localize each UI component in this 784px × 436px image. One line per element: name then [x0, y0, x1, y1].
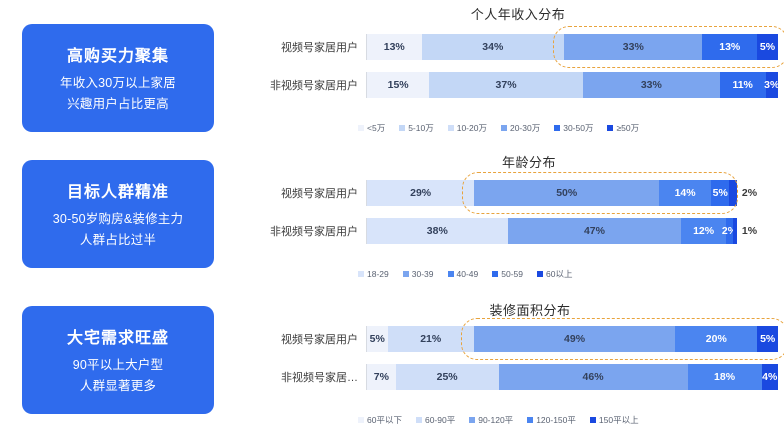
legend-label: 30-39 [412, 269, 434, 279]
legend-swatch-icon [358, 271, 364, 277]
chart-area-title: 装修面积分布 [258, 300, 778, 319]
highlight-card-3-line1: 90平以上大户型 [73, 355, 164, 375]
chart-income-plot: 视频号家居用户13%34%33%13%5%非视频号家居用户15%37%33%11… [258, 34, 778, 98]
bar-row: 非视频号家居用户15%37%33%11%3% [258, 72, 778, 98]
highlight-card-1-line2: 兴趣用户占比更高 [67, 94, 169, 114]
bar-segment: 4% [762, 364, 778, 390]
bar-row: 视频号家居用户13%34%33%13%5% [258, 34, 778, 60]
bar-row-label: 非视频号家居… [258, 369, 366, 385]
legend-item[interactable]: 20-30万 [501, 122, 540, 134]
legend-item[interactable]: 18-29 [358, 268, 389, 280]
bar-segment: 21% [388, 326, 474, 352]
legend-swatch-icon [448, 125, 454, 131]
legend-label: 120-150平 [536, 414, 576, 426]
bar-row: 非视频号家居…7%25%46%18%4% [258, 364, 778, 390]
highlight-card-2-title: 目标人群精准 [67, 178, 169, 202]
legend-item[interactable]: ≥50万 [607, 122, 639, 134]
highlight-card-2: 目标人群精准 30-50岁购房&装修主力 人群占比过半 [22, 160, 214, 268]
bar-segment: 3% [766, 72, 778, 98]
bar-segment: 12% [681, 218, 725, 244]
bar-row-label: 视频号家居用户 [258, 39, 366, 55]
bar-row-label: 非视频号家居用户 [258, 77, 366, 93]
legend-label: 20-30万 [510, 122, 540, 134]
legend-swatch-icon [492, 271, 498, 277]
bar-segment: 11% [720, 72, 766, 98]
highlight-card-2-line2: 人群占比过半 [80, 230, 156, 250]
legend-label: 10-20万 [457, 122, 487, 134]
legend-item[interactable]: 50-59 [492, 268, 523, 280]
bar-segment: 13% [702, 34, 757, 60]
bar-segment: 47% [508, 218, 682, 244]
bar-row: 非视频号家居用户38%47%12%2%1% [258, 218, 778, 244]
bar-row-label: 视频号家居用户 [258, 331, 366, 347]
stacked-bar: 38%47%12%2%1% [366, 218, 778, 244]
chart-income-legend: <5万5-10万10-20万20-30万30-50万≥50万 [358, 122, 778, 134]
bar-segment: 49% [474, 326, 675, 352]
chart-age-title: 年龄分布 [258, 152, 778, 171]
stacked-bar: 5%21%49%20%5% [366, 326, 778, 352]
stacked-bar: 7%25%46%18%4% [366, 364, 778, 390]
bar-segment: 25% [396, 364, 499, 390]
bar-segment: 38% [367, 218, 508, 244]
highlight-card-3: 大宅需求旺盛 90平以上大户型 人群显著更多 [22, 306, 214, 414]
legend-swatch-icon [537, 271, 543, 277]
bar-segment-outside-label: 2% [739, 180, 757, 206]
legend-swatch-icon [554, 125, 560, 131]
legend-swatch-icon [607, 125, 613, 131]
legend-swatch-icon [358, 417, 364, 423]
highlight-card-2-line1: 30-50岁购房&装修主力 [53, 209, 183, 229]
legend-label: 90-120平 [478, 414, 513, 426]
legend-label: 150平以上 [599, 414, 639, 426]
chart-age: 年龄分布 视频号家居用户29%50%14%5%2%非视频号家居用户38%47%1… [258, 152, 778, 300]
highlight-card-3-line2: 人群显著更多 [80, 376, 156, 396]
bar-segment: 15% [367, 72, 429, 98]
bar-row-label: 视频号家居用户 [258, 185, 366, 201]
bar-segment: 33% [583, 72, 720, 98]
legend-item[interactable]: 60平以下 [358, 414, 402, 426]
legend-label: 50-59 [501, 269, 523, 279]
chart-age-plot: 视频号家居用户29%50%14%5%2%非视频号家居用户38%47%12%2%1… [258, 180, 778, 244]
chart-area: 装修面积分布 视频号家居用户5%21%49%20%5%非视频号家居…7%25%4… [258, 300, 778, 436]
legend-swatch-icon [416, 417, 422, 423]
bar-segment: 20% [675, 326, 757, 352]
bar-row-label: 非视频号家居用户 [258, 223, 366, 239]
bar-segment: 50% [474, 180, 659, 206]
bar-row: 视频号家居用户5%21%49%20%5% [258, 326, 778, 352]
bar-segment: 5% [757, 326, 778, 352]
legend-label: <5万 [367, 122, 385, 134]
bar-segment: 5% [367, 326, 388, 352]
chart-area-legend: 60平以下60-90平90-120平120-150平150平以上 [358, 414, 778, 426]
highlight-card-1-title: 高购买力聚集 [67, 42, 169, 66]
stacked-bar: 29%50%14%5%2% [366, 180, 778, 206]
bar-segment: 33% [564, 34, 702, 60]
highlight-card-3-title: 大宅需求旺盛 [67, 324, 169, 348]
legend-item[interactable]: 150平以上 [590, 414, 639, 426]
legend-label: 30-50万 [563, 122, 593, 134]
legend-item[interactable]: 60-90平 [416, 414, 455, 426]
legend-swatch-icon [501, 125, 507, 131]
legend-item[interactable]: 40-49 [448, 268, 479, 280]
legend-swatch-icon [590, 417, 596, 423]
bar-segment: 2% [726, 218, 733, 244]
bar-segment-outside-label: 1% [739, 218, 757, 244]
highlight-card-1-line1: 年收入30万以上家居 [60, 73, 176, 93]
legend-swatch-icon [358, 125, 364, 131]
bar-row: 视频号家居用户29%50%14%5%2% [258, 180, 778, 206]
bar-segment [733, 218, 737, 244]
legend-item[interactable]: 120-150平 [527, 414, 576, 426]
legend-item[interactable]: 10-20万 [448, 122, 487, 134]
legend-label: 40-49 [457, 269, 479, 279]
bar-segment: 18% [688, 364, 762, 390]
legend-swatch-icon [399, 125, 405, 131]
bar-segment: 7% [367, 364, 396, 390]
legend-label: ≥50万 [616, 122, 639, 134]
legend-item[interactable]: 30-39 [403, 268, 434, 280]
legend-label: 5-10万 [408, 122, 434, 134]
slide-root: 高购买力聚集 年收入30万以上家居 兴趣用户占比更高 目标人群精准 30-50岁… [0, 0, 784, 436]
legend-label: 60平以下 [367, 414, 402, 426]
legend-swatch-icon [403, 271, 409, 277]
bar-segment: 13% [367, 34, 422, 60]
legend-item[interactable]: <5万 [358, 122, 385, 134]
legend-swatch-icon [469, 417, 475, 423]
legend-label: 60以上 [546, 268, 572, 280]
bar-segment: 14% [659, 180, 711, 206]
bar-segment: 46% [499, 364, 688, 390]
legend-item[interactable]: 60以上 [537, 268, 572, 280]
bar-segment: 29% [367, 180, 474, 206]
legend-swatch-icon [527, 417, 533, 423]
bar-segment: 37% [429, 72, 583, 98]
legend-item[interactable]: 5-10万 [399, 122, 434, 134]
bar-segment: 5% [757, 34, 778, 60]
highlight-card-1: 高购买力聚集 年收入30万以上家居 兴趣用户占比更高 [22, 24, 214, 132]
chart-age-legend: 18-2930-3940-4950-5960以上 [358, 268, 778, 280]
bar-segment [729, 180, 736, 206]
chart-area-plot: 视频号家居用户5%21%49%20%5%非视频号家居…7%25%46%18%4% [258, 326, 778, 390]
legend-item[interactable]: 30-50万 [554, 122, 593, 134]
bar-segment: 34% [422, 34, 565, 60]
legend-label: 18-29 [367, 269, 389, 279]
chart-income-title: 个人年收入分布 [258, 4, 778, 23]
legend-label: 60-90平 [425, 414, 455, 426]
stacked-bar: 15%37%33%11%3% [366, 72, 778, 98]
bar-segment: 5% [711, 180, 729, 206]
chart-income: 个人年收入分布 视频号家居用户13%34%33%13%5%非视频号家居用户15%… [258, 4, 778, 150]
stacked-bar: 13%34%33%13%5% [366, 34, 778, 60]
legend-swatch-icon [448, 271, 454, 277]
legend-item[interactable]: 90-120平 [469, 414, 513, 426]
